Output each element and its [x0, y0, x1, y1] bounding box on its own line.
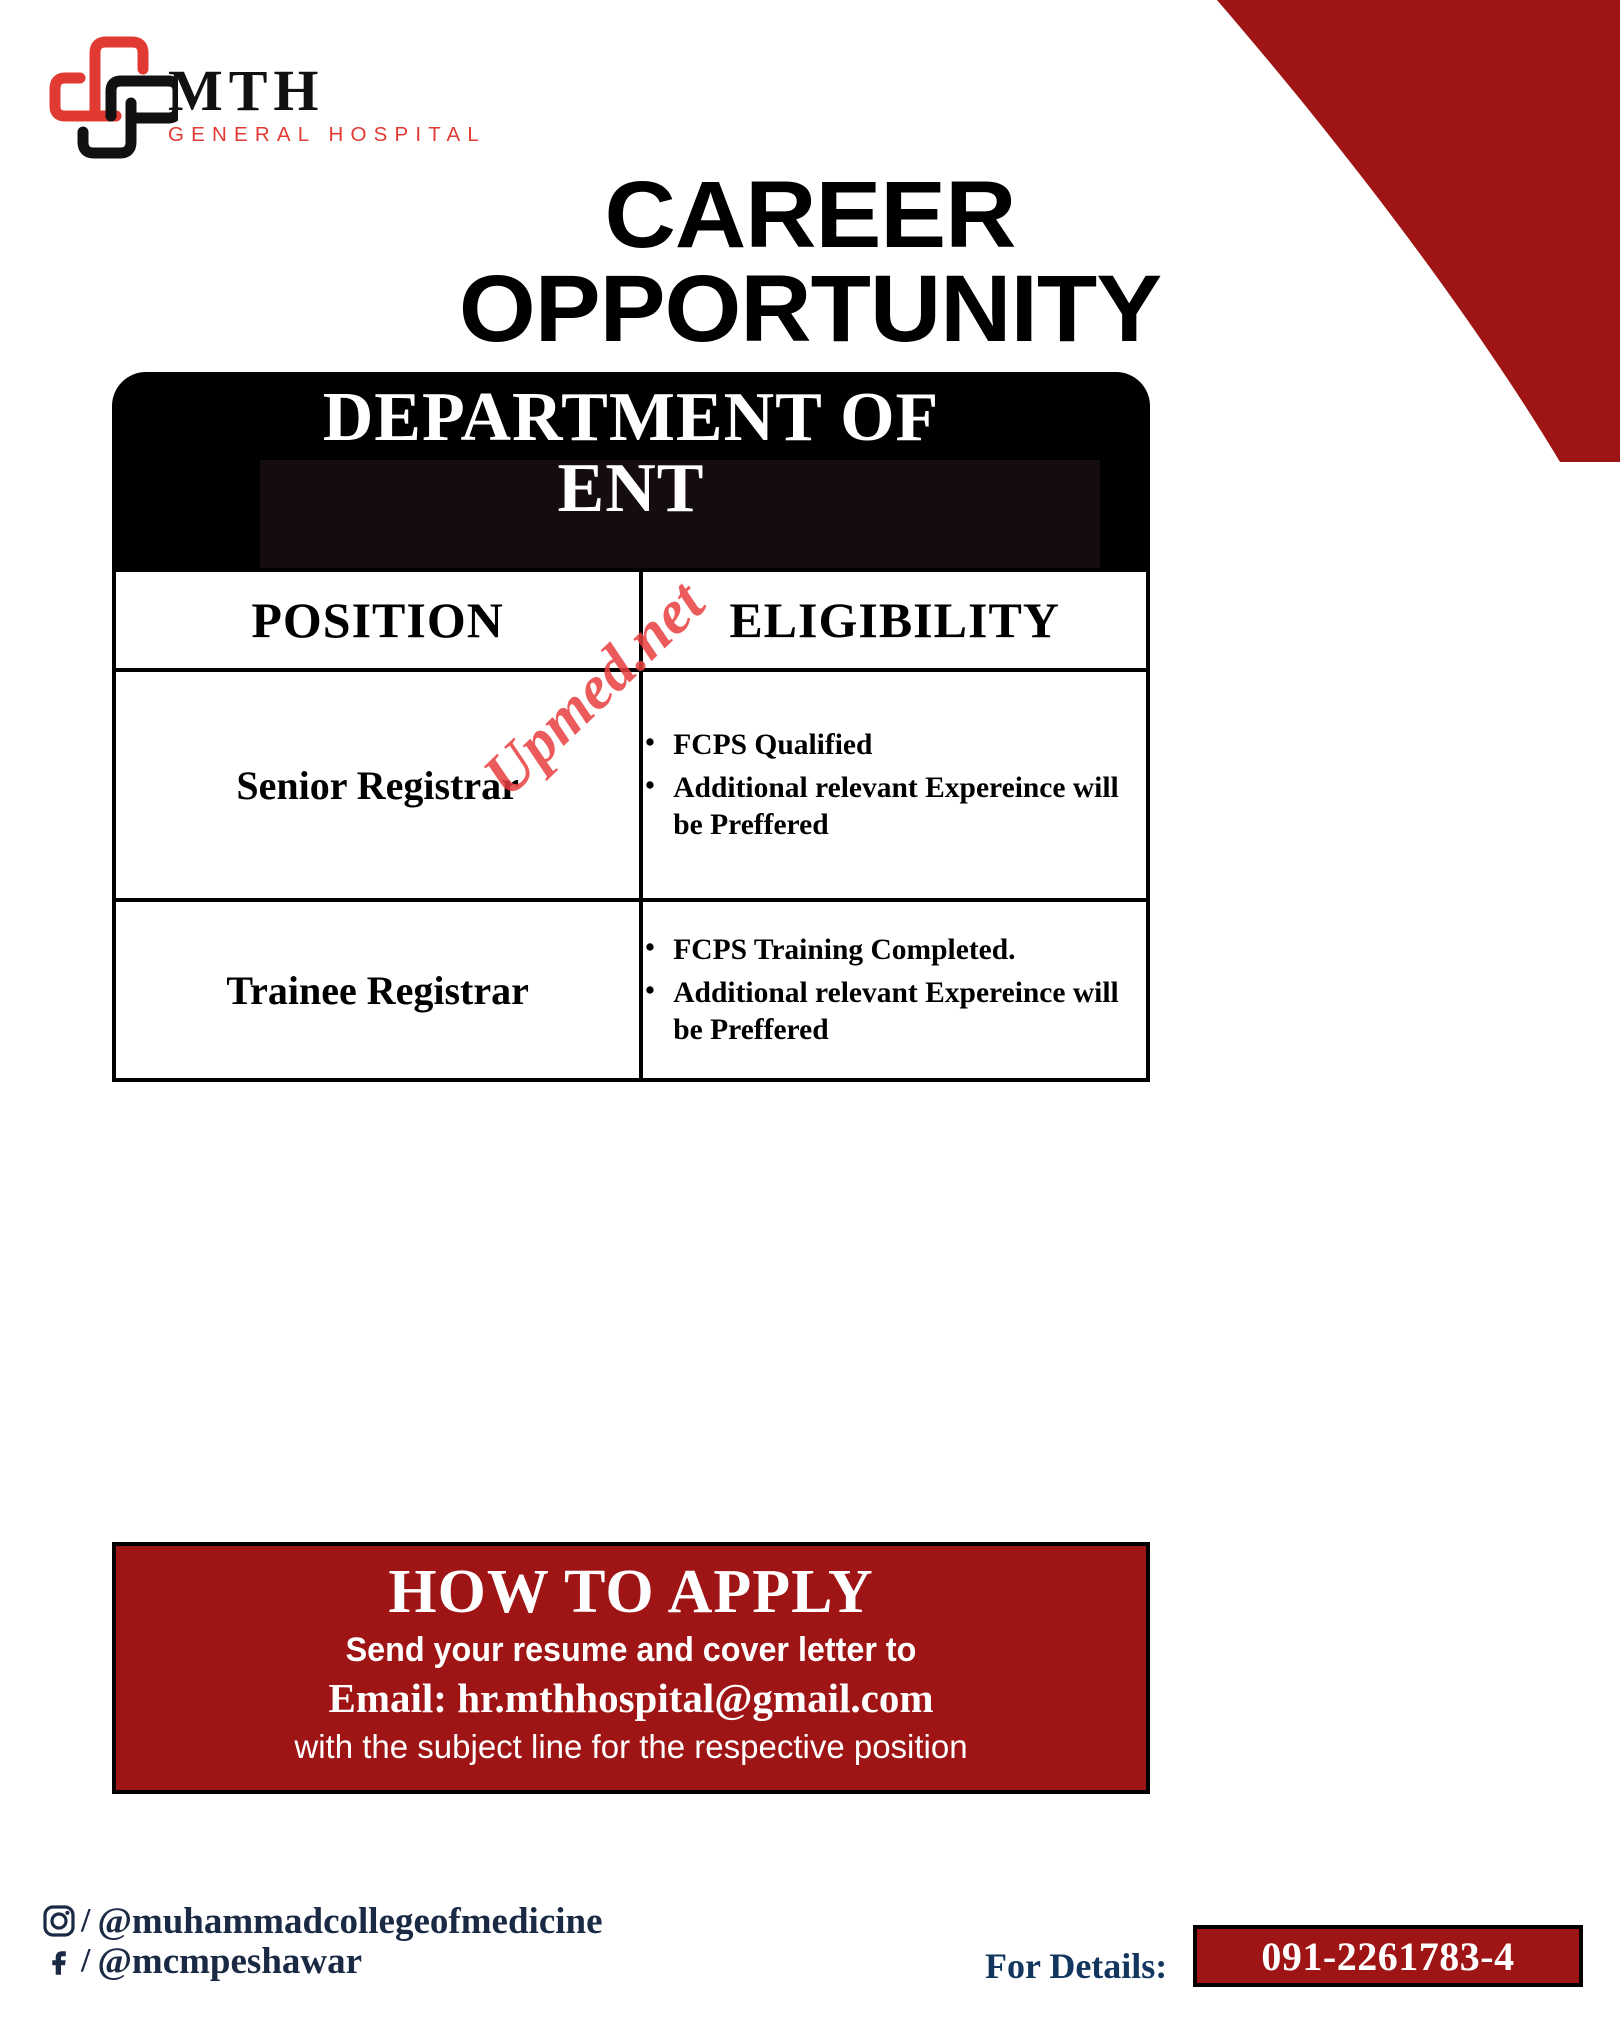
eligibility-item: Additional relevant Expereince will be P…	[669, 770, 1146, 843]
social-link-facebook[interactable]: / @mcmpeshawar	[42, 1942, 603, 1980]
application-email: Email: hr.mthhospital@gmail.com	[116, 1676, 1146, 1722]
how-to-apply-box: HOW TO APPLY Send your resume and cover …	[112, 1542, 1150, 1794]
instagram-handle[interactable]: @muhammadcollegeofmedicine	[97, 1903, 602, 1940]
contact-phone-box[interactable]: 091-2261783-4	[1193, 1925, 1583, 1987]
eligibility-item: FCPS Qualified	[669, 727, 1146, 764]
instagram-icon	[42, 1904, 76, 1938]
department-title-line1: DEPARTMENT OF	[112, 382, 1150, 453]
facebook-icon	[42, 1944, 76, 1978]
social-separator: /	[81, 1942, 90, 1980]
page-title-line2: OPPORTUNITY	[0, 262, 1620, 356]
how-to-apply-instruction: Send your resume and cover letter to	[142, 1631, 1121, 1670]
table-row: Senior Registrar FCPS Qualified Addition…	[114, 670, 1148, 900]
for-details-label: For Details:	[985, 1945, 1167, 1987]
social-links: / @muhammadcollegeofmedicine / @mcmpesha…	[42, 1900, 603, 1982]
vacancies-table: POSITION ELIGIBILITY Senior Registrar FC…	[112, 568, 1150, 1082]
brand-name: MTH	[168, 62, 486, 120]
page-title: CAREER OPPORTUNITY	[0, 168, 1620, 356]
facebook-handle[interactable]: @mcmpeshawar	[97, 1943, 362, 1980]
social-separator: /	[81, 1902, 90, 1940]
contact-phone-number: 091-2261783-4	[1261, 1933, 1514, 1980]
eligibility-cell: FCPS Qualified Additional relevant Exper…	[641, 670, 1148, 900]
eligibility-item: FCPS Training Completed.	[669, 932, 1146, 969]
how-to-apply-subject-note: with the subject line for the respective…	[116, 1728, 1146, 1766]
social-link-instagram[interactable]: / @muhammadcollegeofmedicine	[42, 1902, 603, 1940]
career-opportunity-poster: MTH GENERAL HOSPITAL CAREER OPPORTUNITY …	[0, 0, 1620, 2025]
position-name: Trainee Registrar	[114, 900, 641, 1080]
how-to-apply-title: HOW TO APPLY	[116, 1560, 1146, 1625]
eligibility-item: Additional relevant Expereince will be P…	[669, 975, 1146, 1048]
page-title-line1: CAREER	[0, 168, 1620, 262]
position-name: Senior Registrar	[114, 670, 641, 900]
interlocking-cross-logo-icon	[28, 26, 178, 166]
brand-subtitle: GENERAL HOSPITAL	[168, 125, 486, 146]
table-row: Trainee Registrar FCPS Training Complete…	[114, 900, 1148, 1080]
eligibility-cell: FCPS Training Completed. Additional rele…	[641, 900, 1148, 1080]
department-title-line2: ENT	[112, 453, 1150, 524]
department-banner: DEPARTMENT OF ENT	[112, 372, 1150, 570]
column-header-eligibility: ELIGIBILITY	[641, 570, 1148, 670]
column-header-position: POSITION	[114, 570, 641, 670]
table-header-row: POSITION ELIGIBILITY	[114, 570, 1148, 670]
department-title: DEPARTMENT OF ENT	[112, 382, 1150, 525]
brand-logo: MTH GENERAL HOSPITAL	[28, 26, 508, 166]
